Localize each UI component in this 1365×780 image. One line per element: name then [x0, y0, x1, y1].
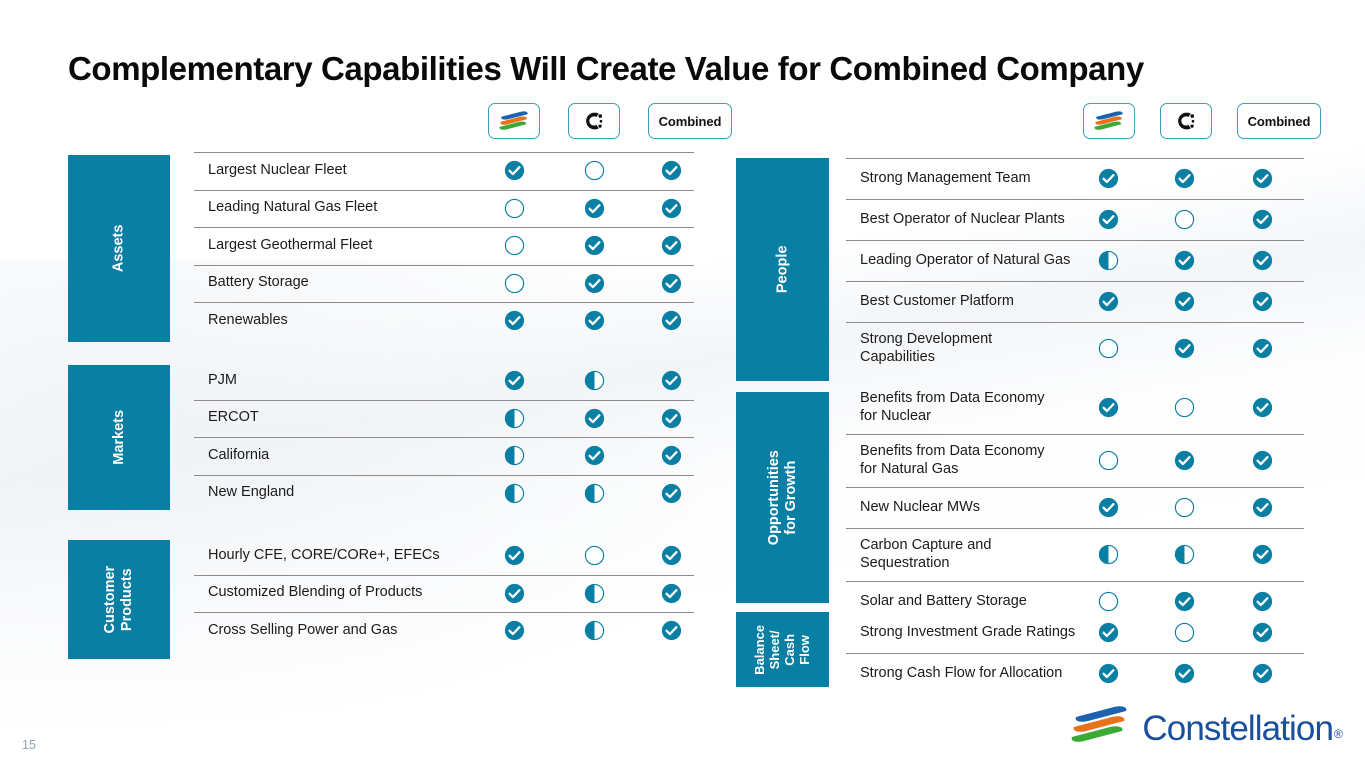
status-empty-circle-icon [1173, 612, 1195, 653]
category-label: Customer Products [102, 566, 135, 634]
category-label: Assets [111, 225, 128, 273]
status-full-circle-check-icon [583, 400, 605, 438]
left-header-calpine[interactable] [568, 103, 620, 139]
status-full-circle-check-icon [1173, 653, 1195, 694]
status-full-circle-check-icon [503, 612, 525, 650]
status-full-circle-check-icon [660, 400, 682, 438]
status-full-circle-check-icon [660, 227, 682, 265]
capability-label: California [194, 447, 508, 465]
table-row: Renewables [194, 302, 694, 340]
status-full-circle-check-icon [583, 227, 605, 265]
status-empty-circle-icon [503, 190, 525, 228]
table-row: Strong Management Team [846, 158, 1304, 199]
table-row: New Nuclear MWs [846, 487, 1304, 528]
category-block-opportunities-forgrowth: Opportunities for Growth [736, 392, 829, 603]
capability-label: Cross Selling Power and Gas [194, 622, 508, 640]
status-half-filled-circle-icon [503, 400, 525, 438]
status-full-circle-check-icon [1251, 653, 1273, 694]
status-full-circle-check-icon [1251, 528, 1273, 581]
category-block-people: People [736, 158, 829, 381]
table-row: Strong Cash Flow for Allocation [846, 653, 1304, 694]
left-column-headers: Combined [488, 103, 732, 139]
capability-label: New Nuclear MWs [846, 499, 1110, 517]
status-empty-circle-icon [1173, 487, 1195, 528]
status-empty-circle-icon [1097, 322, 1119, 375]
status-full-circle-check-icon [1097, 653, 1119, 694]
row-divider [846, 487, 1304, 488]
status-empty-circle-icon [1173, 199, 1195, 240]
capability-label: Leading Operator of Natural Gas [846, 252, 1110, 270]
capability-label: Largest Geothermal Fleet [194, 237, 508, 255]
status-full-circle-check-icon [1251, 158, 1273, 199]
status-full-circle-check-icon [660, 362, 682, 400]
combined-label: Combined [659, 114, 722, 129]
table-row: Customized Blending of Products [194, 575, 694, 613]
capability-label: Strong Development Capabilities [846, 331, 1110, 366]
status-half-filled-circle-icon [583, 612, 605, 650]
right-column-headers: Combined [1083, 103, 1321, 139]
section-top-divider [846, 158, 1304, 159]
table-row: California [194, 437, 694, 475]
status-full-circle-check-icon [660, 152, 682, 190]
table-row: Battery Storage [194, 265, 694, 303]
category-block-assets: Assets [68, 155, 170, 342]
row-divider [846, 434, 1304, 435]
table-row: Benefits from Data Economy for Nuclear [846, 381, 1304, 434]
status-full-circle-check-icon [660, 302, 682, 340]
combined-label: Combined [1248, 114, 1311, 129]
status-full-circle-check-icon [583, 265, 605, 303]
capability-label: PJM [194, 372, 508, 390]
page-number: 15 [22, 738, 36, 752]
status-full-circle-check-icon [583, 302, 605, 340]
status-full-circle-check-icon [660, 437, 682, 475]
status-half-filled-circle-icon [583, 362, 605, 400]
constellation-stripes-icon [497, 110, 531, 132]
status-full-circle-check-icon [1097, 487, 1119, 528]
page-title: Complementary Capabilities Will Create V… [68, 50, 1144, 88]
left-section-table: PJM ERCOT California New England [194, 362, 694, 512]
table-row: Leading Operator of Natural Gas [846, 240, 1304, 281]
capability-label: Best Customer Platform [846, 293, 1110, 311]
status-half-filled-circle-icon [1097, 528, 1119, 581]
left-header-constellation[interactable] [488, 103, 540, 139]
row-divider [846, 581, 1304, 582]
status-full-circle-check-icon [1097, 381, 1119, 434]
capability-label: Best Operator of Nuclear Plants [846, 211, 1110, 229]
status-full-circle-check-icon [1251, 612, 1273, 653]
status-full-circle-check-icon [1173, 158, 1195, 199]
status-full-circle-check-icon [503, 537, 525, 575]
row-divider [846, 322, 1304, 323]
status-full-circle-check-icon [583, 437, 605, 475]
category-label: Opportunities for Growth [766, 450, 799, 545]
table-row: Carbon Capture and Sequestration [846, 528, 1304, 581]
row-divider [846, 281, 1304, 282]
capability-label: Strong Cash Flow for Allocation [846, 665, 1110, 683]
status-full-circle-check-icon [1097, 281, 1119, 322]
table-row: Strong Development Capabilities [846, 322, 1304, 375]
row-divider [194, 612, 694, 613]
status-empty-circle-icon [583, 537, 605, 575]
status-full-circle-check-icon [1097, 199, 1119, 240]
row-divider [194, 190, 694, 191]
capability-label: Benefits from Data Economy for Natural G… [846, 443, 1110, 478]
row-divider [194, 227, 694, 228]
capability-label: Strong Management Team [846, 170, 1110, 188]
status-full-circle-check-icon [660, 475, 682, 513]
status-full-circle-check-icon [1251, 322, 1273, 375]
right-header-calpine[interactable] [1160, 103, 1212, 139]
status-half-filled-circle-icon [1173, 528, 1195, 581]
table-row: Benefits from Data Economy for Natural G… [846, 434, 1304, 487]
capability-label: Leading Natural Gas Fleet [194, 199, 508, 217]
constellation-stripes-icon [1092, 110, 1126, 132]
capability-label: Largest Nuclear Fleet [194, 162, 508, 180]
row-divider [194, 475, 694, 476]
table-row: Largest Nuclear Fleet [194, 152, 694, 190]
capability-label: Customized Blending of Products [194, 584, 508, 602]
status-full-circle-check-icon [503, 302, 525, 340]
row-divider [194, 400, 694, 401]
left-section-table: Largest Nuclear Fleet Leading Natural Ga… [194, 152, 694, 340]
category-block-balance-sheet-cash-flow: Balance Sheet/ Cash Flow [736, 612, 829, 687]
status-half-filled-circle-icon [583, 575, 605, 613]
status-full-circle-check-icon [1251, 281, 1273, 322]
capability-label: Strong Investment Grade Ratings [846, 624, 1110, 642]
status-full-circle-check-icon [1173, 434, 1195, 487]
status-full-circle-check-icon [503, 575, 525, 613]
table-row: Best Customer Platform [846, 281, 1304, 322]
status-full-circle-check-icon [660, 537, 682, 575]
right-section-table: Strong Management Team Best Operator of … [846, 158, 1304, 375]
table-row: Largest Geothermal Fleet [194, 227, 694, 265]
status-full-circle-check-icon [660, 612, 682, 650]
capability-label: Solar and Battery Storage [846, 593, 1110, 611]
status-full-circle-check-icon [1251, 240, 1273, 281]
capability-label: Carbon Capture and Sequestration [846, 537, 1110, 572]
status-full-circle-check-icon [1251, 381, 1273, 434]
capability-label: Hourly CFE, CORE/CORe+, EFECs [194, 547, 508, 565]
constellation-wordmark: Constellation® [1142, 709, 1341, 749]
table-row: Leading Natural Gas Fleet [194, 190, 694, 228]
status-empty-circle-icon [503, 227, 525, 265]
calpine-c-icon [1175, 110, 1197, 132]
constellation-footer-logo: Constellation® [1070, 703, 1341, 750]
category-label: Balance Sheet/ Cash Flow [753, 625, 813, 675]
status-half-filled-circle-icon [583, 475, 605, 513]
status-full-circle-check-icon [660, 190, 682, 228]
capability-label: Renewables [194, 312, 508, 330]
left-section-table: Hourly CFE, CORE/CORe+, EFECs Customized… [194, 537, 694, 650]
capability-label: Battery Storage [194, 274, 508, 292]
row-divider [194, 437, 694, 438]
row-divider [846, 199, 1304, 200]
status-full-circle-check-icon [1251, 487, 1273, 528]
category-label: Markets [111, 410, 128, 465]
status-half-filled-circle-icon [503, 475, 525, 513]
table-row: ERCOT [194, 400, 694, 438]
status-full-circle-check-icon [1173, 322, 1195, 375]
status-half-filled-circle-icon [503, 437, 525, 475]
calpine-c-icon [583, 110, 605, 132]
right-section-table: Strong Investment Grade Ratings Strong C… [846, 612, 1304, 694]
left-header-combined[interactable]: Combined [648, 103, 732, 139]
table-row: Cross Selling Power and Gas [194, 612, 694, 650]
status-full-circle-check-icon [660, 265, 682, 303]
table-row: Best Operator of Nuclear Plants [846, 199, 1304, 240]
status-full-circle-check-icon [1173, 281, 1195, 322]
right-header-constellation[interactable] [1083, 103, 1135, 139]
category-block-customer-products: Customer Products [68, 540, 170, 659]
row-divider [194, 575, 694, 576]
status-full-circle-check-icon [503, 152, 525, 190]
status-full-circle-check-icon [1173, 240, 1195, 281]
capability-label: New England [194, 484, 508, 502]
right-header-combined[interactable]: Combined [1237, 103, 1321, 139]
capability-label: Benefits from Data Economy for Nuclear [846, 390, 1110, 425]
table-row: PJM [194, 362, 694, 400]
row-divider [194, 265, 694, 266]
status-full-circle-check-icon [503, 362, 525, 400]
row-divider [846, 653, 1304, 654]
capability-label: ERCOT [194, 409, 508, 427]
status-full-circle-check-icon [1097, 158, 1119, 199]
status-full-circle-check-icon [583, 190, 605, 228]
constellation-stripes-icon [1070, 703, 1132, 750]
category-block-markets: Markets [68, 365, 170, 510]
row-divider [194, 302, 694, 303]
section-top-divider [194, 152, 694, 153]
status-full-circle-check-icon [660, 575, 682, 613]
right-section-table: Benefits from Data Economy for Nuclear B… [846, 381, 1304, 622]
status-half-filled-circle-icon [1097, 240, 1119, 281]
status-full-circle-check-icon [1251, 199, 1273, 240]
status-full-circle-check-icon [1097, 612, 1119, 653]
table-row: Hourly CFE, CORE/CORe+, EFECs [194, 537, 694, 575]
status-empty-circle-icon [1097, 434, 1119, 487]
status-empty-circle-icon [583, 152, 605, 190]
status-empty-circle-icon [503, 265, 525, 303]
table-row: New England [194, 475, 694, 513]
category-label: People [774, 246, 791, 294]
table-row: Strong Investment Grade Ratings [846, 612, 1304, 653]
row-divider [846, 240, 1304, 241]
status-full-circle-check-icon [1251, 434, 1273, 487]
row-divider [846, 528, 1304, 529]
status-empty-circle-icon [1173, 381, 1195, 434]
